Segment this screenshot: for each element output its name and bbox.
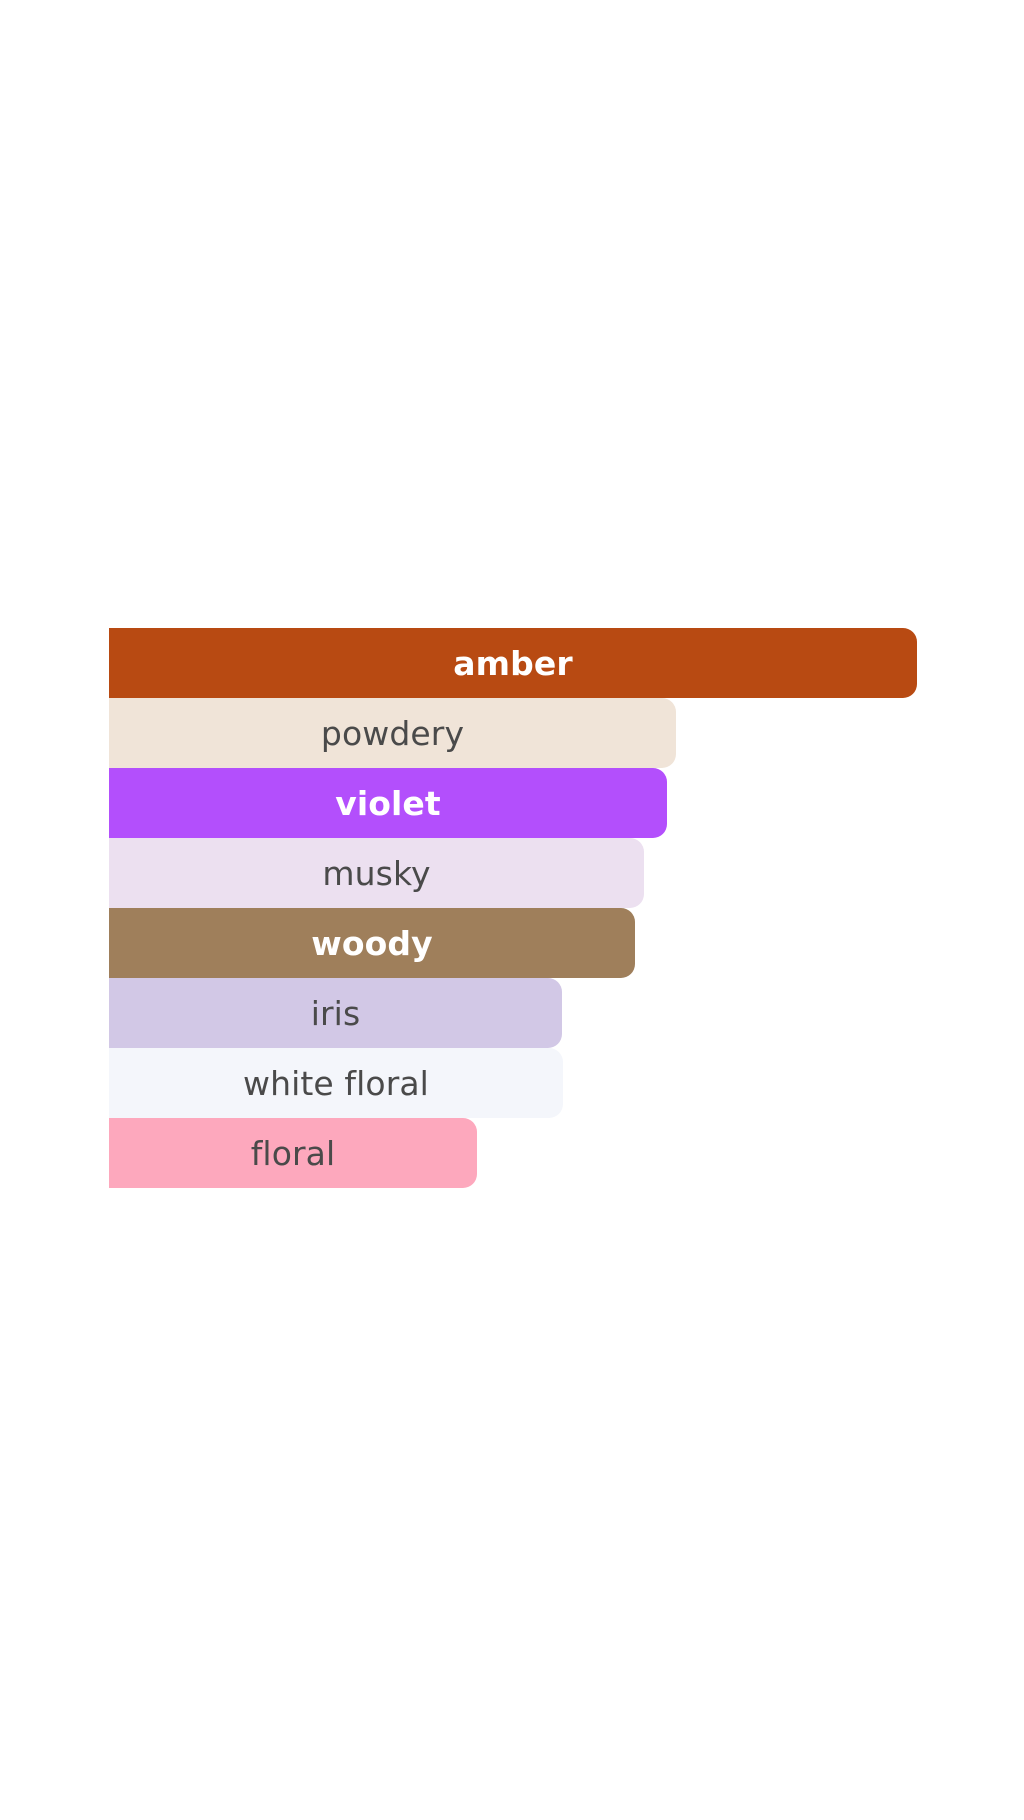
bar-row: white floral xyxy=(109,1048,959,1118)
bar-white-floral[interactable]: white floral xyxy=(109,1048,563,1118)
bar-floral[interactable]: floral xyxy=(109,1118,477,1188)
bar-powdery[interactable]: powdery xyxy=(109,698,676,768)
plot-area: amber powdery violet musky woody ir xyxy=(109,628,959,1188)
bar-row: floral xyxy=(109,1118,959,1188)
bar-musky[interactable]: musky xyxy=(109,838,644,908)
bar-label-musky: musky xyxy=(322,857,430,890)
bar-label-white-floral: white floral xyxy=(243,1067,429,1100)
bar-chart: amber powdery violet musky woody ir xyxy=(0,0,1024,1820)
bar-amber[interactable]: amber xyxy=(109,628,917,698)
bar-label-powdery: powdery xyxy=(321,717,464,750)
bar-row: amber xyxy=(109,628,959,698)
bar-row: woody xyxy=(109,908,959,978)
bar-label-iris: iris xyxy=(311,997,361,1030)
bar-iris[interactable]: iris xyxy=(109,978,562,1048)
bar-label-amber: amber xyxy=(453,647,572,680)
bar-row: iris xyxy=(109,978,959,1048)
bar-violet[interactable]: violet xyxy=(109,768,667,838)
bar-label-violet: violet xyxy=(335,787,441,820)
bar-label-floral: floral xyxy=(251,1137,336,1170)
bar-row: violet xyxy=(109,768,959,838)
bar-row: musky xyxy=(109,838,959,908)
bar-label-woody: woody xyxy=(311,927,432,960)
bar-row: powdery xyxy=(109,698,959,768)
bar-woody[interactable]: woody xyxy=(109,908,635,978)
